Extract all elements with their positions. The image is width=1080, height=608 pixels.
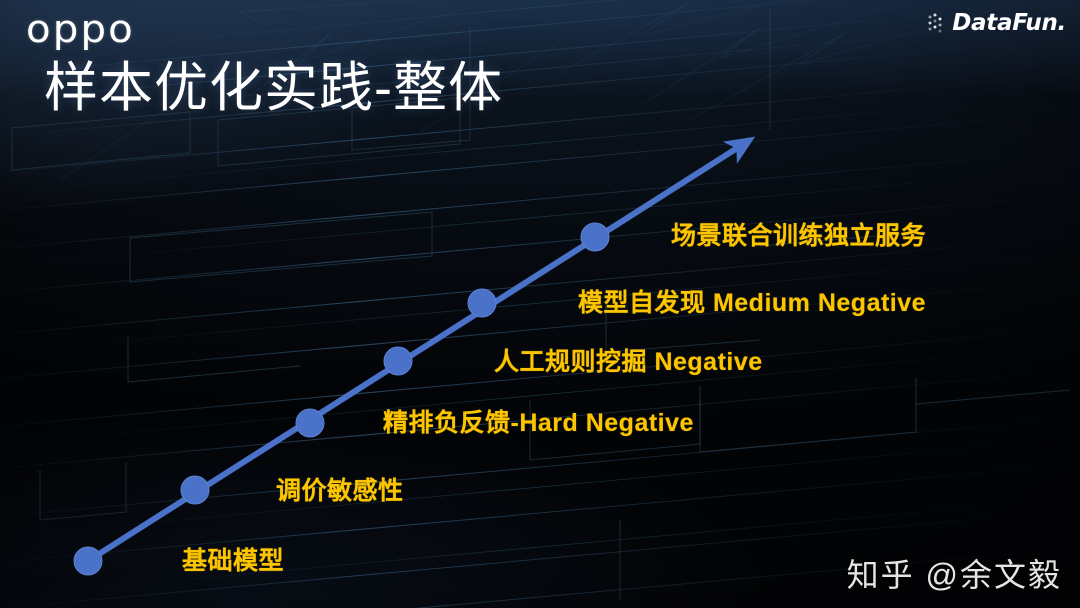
chart-point-4 [384,347,412,375]
slide-canvas: oppo DataFun. 样本优化实践-整体 [0,0,1080,608]
step-label-3: 精排负反馈-Hard Negative [383,408,694,438]
step-label-6: 场景联合训练独立服务 [671,221,926,251]
chart-point-5 [468,289,496,317]
chart-point-2 [181,476,209,504]
step-label-4: 人工规则挖掘 Negative [494,347,763,377]
step-label-5: 模型自发现 Medium Negative [578,288,926,318]
step-label-2: 调价敏感性 [276,476,404,506]
chart-point-1 [74,547,102,575]
watermark-zhihu: 知乎 @余文毅 [847,556,1062,594]
step-label-1: 基础模型 [182,546,284,576]
chart-point-6 [581,223,609,251]
chart-point-3 [296,409,324,437]
